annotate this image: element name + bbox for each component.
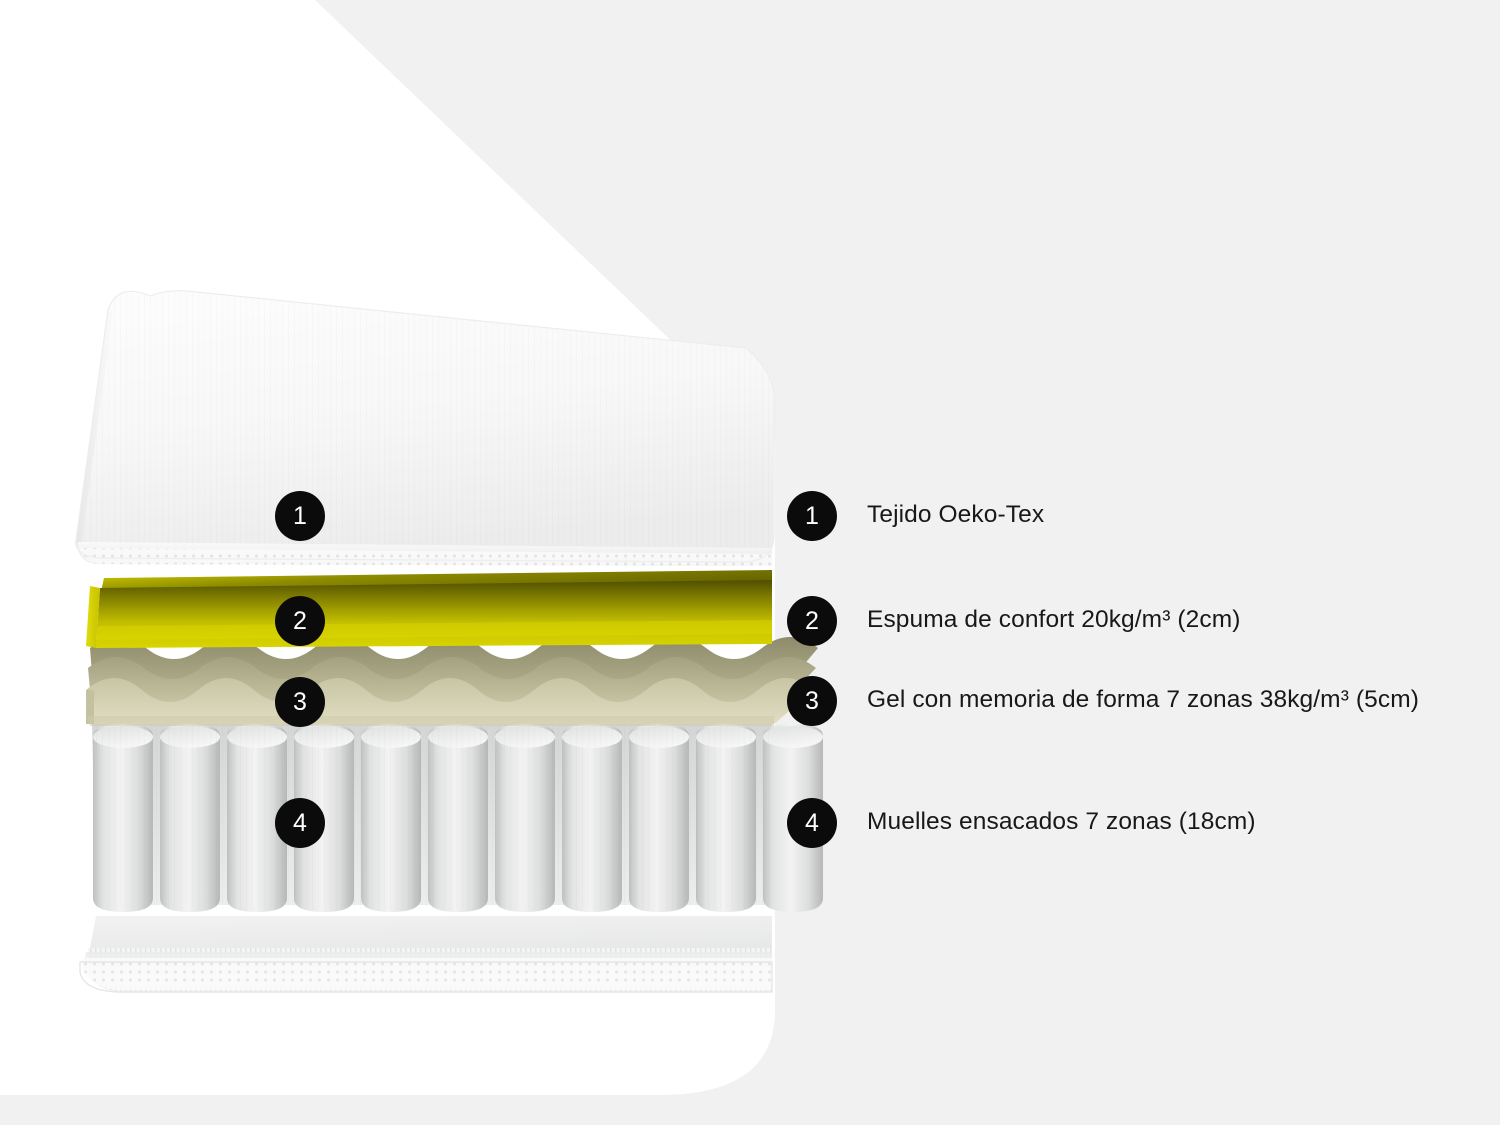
legend-item-3: 3 Gel con memoria de forma 7 zonas 38kg/…: [787, 676, 1427, 726]
legend-badge-2: 2: [787, 596, 837, 646]
cover-oeko-tex-art: [76, 291, 774, 566]
base-cover-art: [80, 916, 772, 992]
legend-item-2: 2 Espuma de confort 20kg/m³ (2cm): [787, 596, 1427, 646]
legend-badge-4: 4: [787, 798, 837, 848]
legend-item-1: 1 Tejido Oeko-Tex: [787, 491, 1427, 541]
legend-badge-3: 3: [787, 676, 837, 726]
layer-badge-1: 1: [275, 491, 325, 541]
product-layers-infographic: 1 2 3 4 1 Tejido Oeko-Tex 2 Espuma de co…: [0, 0, 1500, 1125]
layer-badge-3: 3: [275, 677, 325, 727]
pocket-springs-art: [92, 724, 823, 912]
legend-item-4: 4 Muelles ensacados 7 zonas (18cm): [787, 798, 1427, 848]
legend-badge-1: 1: [787, 491, 837, 541]
legend-label-3: Gel con memoria de forma 7 zonas 38kg/m³…: [867, 676, 1419, 720]
layer-badge-4: 4: [275, 798, 325, 848]
legend-label-1: Tejido Oeko-Tex: [867, 491, 1044, 535]
comfort-foam-art: [86, 570, 772, 648]
legend-label-4: Muelles ensacados 7 zonas (18cm): [867, 798, 1256, 842]
gel-memory-foam-art: [86, 637, 818, 726]
layer-badge-2: 2: [275, 596, 325, 646]
legend-label-2: Espuma de confort 20kg/m³ (2cm): [867, 596, 1240, 640]
layer-legend: 1 Tejido Oeko-Tex 2 Espuma de confort 20…: [787, 0, 1447, 1125]
